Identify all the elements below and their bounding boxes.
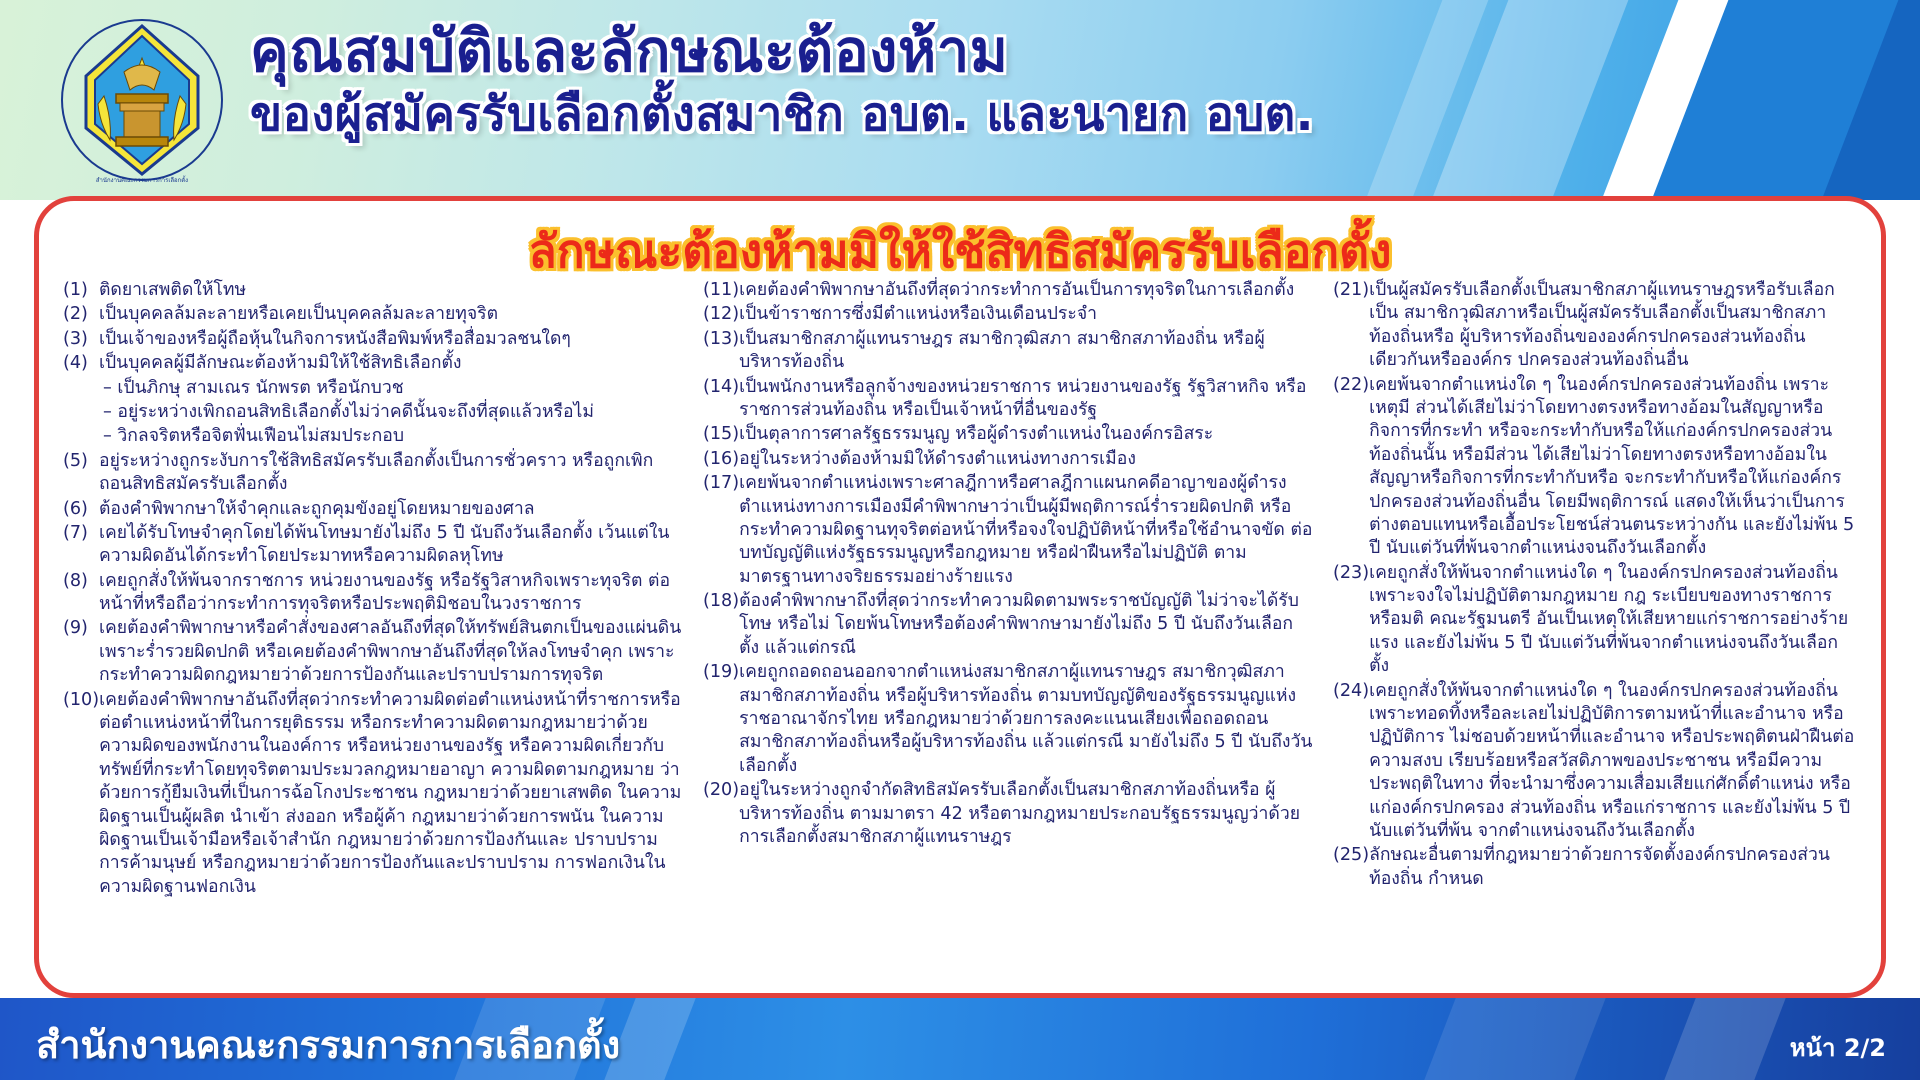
list-item-text: เป็นตุลาการศาลรัฐธรรมนูญ หรือผู้ดำรงตำแห…	[739, 423, 1313, 446]
infographic-page: สำนักงานคณะกรรมการการเลือกตั้ง คุณสมบัติ…	[0, 0, 1920, 1080]
list-item-number: (5)	[63, 450, 99, 473]
list-item-text: เคยได้รับโทษจำคุกโดยได้พ้นโทษมายังไม่ถึง…	[99, 522, 683, 569]
list-item: (12)เป็นข้าราชการซึ่งมีตำแหน่งหรือเงินเด…	[703, 303, 1313, 326]
list-item: (24)เคยถูกสั่งให้พ้นจากตำแหน่งใด ๆ ในองค…	[1333, 680, 1857, 844]
list-item-number: (15)	[703, 423, 739, 446]
list-item: (11)เคยต้องคำพิพากษาอันถึงที่สุดว่ากระทำ…	[703, 279, 1313, 302]
list-item-number: (12)	[703, 303, 739, 326]
list-item-text: ต้องคำพิพากษาให้จำคุกและถูกคุมขังอยู่โดย…	[99, 498, 683, 521]
list-item-number: (19)	[703, 661, 739, 684]
list-item-number: (11)	[703, 279, 739, 302]
list-item: (19)เคยถูกถอดถอนออกจากตำแหน่งสมาชิกสภาผู…	[703, 661, 1313, 778]
list-columns: (1)ติดยาเสพติดให้โทษ(2)เป็นบุคคลล้มละลาย…	[39, 279, 1881, 985]
list-item-number: (1)	[63, 279, 99, 302]
list-subitem: – อยู่ระหว่างเพิกถอนสิทธิเลือกตั้งไม่ว่า…	[63, 401, 683, 424]
list-item: (23)เคยถูกสั่งให้พ้นจากตำแหน่งใด ๆ ในองค…	[1333, 562, 1857, 679]
list-subitem: – เป็นภิกษุ สามเณร นักพรต หรือนักบวช	[63, 377, 683, 400]
list-item: (16)อยู่ในระหว่างต้องห้ามมิให้ดำรงตำแหน่…	[703, 448, 1313, 471]
list-item-text: เคยถูกสั่งให้พ้นจากราชการ หน่วยงานของรัฐ…	[99, 570, 683, 617]
list-item: (10)เคยต้องคำพิพากษาอันถึงที่สุดว่ากระทำ…	[63, 689, 683, 900]
list-item: (22)เคยพ้นจากตำแหน่งใด ๆ ในองค์กรปกครองส…	[1333, 374, 1857, 561]
list-item-number: (6)	[63, 498, 99, 521]
column-2: (11)เคยต้องคำพิพากษาอันถึงที่สุดว่ากระทำ…	[693, 279, 1323, 850]
list-subitem: – วิกลจริตหรือจิตฟั่นเฟือนไม่สมประกอบ	[63, 425, 683, 448]
list-item-number: (9)	[63, 617, 99, 640]
list-item-text: เคยถูกสั่งให้พ้นจากตำแหน่งใด ๆ ในองค์กรป…	[1369, 562, 1857, 679]
list-item: (17)เคยพ้นจากตำแหน่งเพราะศาลฎีกาหรือศาลฎ…	[703, 472, 1313, 589]
list-item-text: เคยต้องคำพิพากษาหรือคำสั่งของศาลอันถึงที…	[99, 617, 683, 687]
list-item-text: เป็นข้าราชการซึ่งมีตำแหน่งหรือเงินเดือนป…	[739, 303, 1313, 326]
list-item-number: (10)	[63, 689, 99, 712]
list-item-text: เคยถูกถอดถอนออกจากตำแหน่งสมาชิกสภาผู้แทน…	[739, 661, 1313, 778]
list-item: (3)เป็นเจ้าของหรือผู้ถือหุ้นในกิจการหนัง…	[63, 328, 683, 351]
ect-seal-logo: สำนักงานคณะกรรมการการเลือกตั้ง	[58, 16, 226, 184]
list-item: (6)ต้องคำพิพากษาให้จำคุกและถูกคุมขังอยู่…	[63, 498, 683, 521]
list-item: (9)เคยต้องคำพิพากษาหรือคำสั่งของศาลอันถึ…	[63, 617, 683, 687]
list-item-text: เคยต้องคำพิพากษาอันถึงที่สุดว่ากระทำความ…	[99, 689, 683, 900]
content-panel: ลักษณะต้องห้ามมิให้ใช้สิทธิสมัครรับเลือก…	[34, 196, 1886, 998]
list-item-number: (17)	[703, 472, 739, 495]
list-item-text: ลักษณะอื่นตามที่กฎหมายว่าด้วยการจัดตั้งอ…	[1369, 844, 1857, 891]
list-item-text: เคยถูกสั่งให้พ้นจากตำแหน่งใด ๆ ในองค์กรป…	[1369, 680, 1857, 844]
list-item-text: เป็นเจ้าของหรือผู้ถือหุ้นในกิจการหนังสือ…	[99, 328, 683, 351]
page-title-line2: ของผู้สมัครรับเลือกตั้งสมาชิก อบต. และนา…	[250, 91, 1430, 139]
list-item: (25)ลักษณะอื่นตามที่กฎหมายว่าด้วยการจัดต…	[1333, 844, 1857, 891]
footer-page-number: หน้า 2/2	[1790, 1028, 1886, 1067]
list-item: (13)เป็นสมาชิกสภาผู้แทนราษฎร สมาชิกวุฒิส…	[703, 328, 1313, 375]
list-item-number: (8)	[63, 570, 99, 593]
list-item: (21)เป็นผู้สมัครรับเลือกตั้งเป็นสมาชิกสภ…	[1333, 279, 1857, 373]
list-item-text: ต้องคำพิพากษาถึงที่สุดว่ากระทำความผิดตาม…	[739, 590, 1313, 660]
page-footer: สำนักงานคณะกรรมการการเลือกตั้ง หน้า 2/2	[0, 998, 1920, 1080]
list-item-number: (2)	[63, 303, 99, 326]
list-item-text: เคยต้องคำพิพากษาอันถึงที่สุดว่ากระทำการอ…	[739, 279, 1313, 302]
list-item-text: เป็นบุคคลล้มละลายหรือเคยเป็นบุคคลล้มละลา…	[99, 303, 683, 326]
list-item-text: อยู่ระหว่างถูกระงับการใช้สิทธิสมัครรับเล…	[99, 450, 683, 497]
list-item-number: (3)	[63, 328, 99, 351]
list-item: (20)อยู่ในระหว่างถูกจำกัดสิทธิสมัครรับเล…	[703, 779, 1313, 849]
list-item-text: เป็นผู้สมัครรับเลือกตั้งเป็นสมาชิกสภาผู้…	[1369, 279, 1857, 373]
list-item-text: อยู่ในระหว่างต้องห้ามมิให้ดำรงตำแหน่งทาง…	[739, 448, 1313, 471]
list-item: (1)ติดยาเสพติดให้โทษ	[63, 279, 683, 302]
list-item: (18)ต้องคำพิพากษาถึงที่สุดว่ากระทำความผิ…	[703, 590, 1313, 660]
list-item: (5)อยู่ระหว่างถูกระงับการใช้สิทธิสมัครรั…	[63, 450, 683, 497]
list-item-number: (16)	[703, 448, 739, 471]
footer-wedge-decoration	[1664, 998, 1785, 1080]
list-item-number: (13)	[703, 328, 739, 351]
list-item-text: ติดยาเสพติดให้โทษ	[99, 279, 683, 302]
column-1: (1)ติดยาเสพติดให้โทษ(2)เป็นบุคคลล้มละลาย…	[53, 279, 693, 900]
list-item-number: (14)	[703, 376, 739, 399]
list-item-number: (25)	[1333, 844, 1369, 867]
column-3: (21)เป็นผู้สมัครรับเลือกตั้งเป็นสมาชิกสภ…	[1323, 279, 1867, 892]
list-item: (2)เป็นบุคคลล้มละลายหรือเคยเป็นบุคคลล้มล…	[63, 303, 683, 326]
list-item-number: (4)	[63, 352, 99, 375]
footer-wedge-decoration	[1424, 998, 1605, 1080]
list-item-number: (18)	[703, 590, 739, 613]
list-item-text: เป็นสมาชิกสภาผู้แทนราษฎร สมาชิกวุฒิสภา ส…	[739, 328, 1313, 375]
list-item-text: เคยพ้นจากตำแหน่งเพราะศาลฎีกาหรือศาลฎีกาแ…	[739, 472, 1313, 589]
list-item-number: (23)	[1333, 562, 1369, 585]
list-item-text: เป็นพนักงานหรือลูกจ้างของหน่วยราชการ หน่…	[739, 376, 1313, 423]
page-title-line1: คุณสมบัติและลักษณะต้องห้าม	[250, 22, 1430, 81]
list-item: (15)เป็นตุลาการศาลรัฐธรรมนูญ หรือผู้ดำรง…	[703, 423, 1313, 446]
list-item: (14)เป็นพนักงานหรือลูกจ้างของหน่วยราชการ…	[703, 376, 1313, 423]
list-item: (4)เป็นบุคคลผู้มีลักษณะต้องห้ามมิให้ใช้ส…	[63, 352, 683, 375]
list-item-number: (22)	[1333, 374, 1369, 397]
list-item-text: เคยพ้นจากตำแหน่งใด ๆ ในองค์กรปกครองส่วนท…	[1369, 374, 1857, 561]
list-item-number: (7)	[63, 522, 99, 545]
list-item: (7)เคยได้รับโทษจำคุกโดยได้พ้นโทษมายังไม่…	[63, 522, 683, 569]
list-item-text: อยู่ในระหว่างถูกจำกัดสิทธิสมัครรับเลือกต…	[739, 779, 1313, 849]
list-item-number: (21)	[1333, 279, 1369, 302]
list-item-number: (24)	[1333, 680, 1369, 703]
panel-heading: ลักษณะต้องห้ามมิให้ใช้สิทธิสมัครรับเลือก…	[39, 215, 1881, 288]
page-header: สำนักงานคณะกรรมการการเลือกตั้ง คุณสมบัติ…	[0, 0, 1920, 200]
header-title-block: คุณสมบัติและลักษณะต้องห้าม ของผู้สมัครรั…	[250, 22, 1430, 139]
list-item: (8)เคยถูกสั่งให้พ้นจากราชการ หน่วยงานของ…	[63, 570, 683, 617]
list-item-text: เป็นบุคคลผู้มีลักษณะต้องห้ามมิให้ใช้สิทธ…	[99, 352, 683, 375]
footer-organization: สำนักงานคณะกรรมการการเลือกตั้ง	[36, 1014, 620, 1075]
list-item-number: (20)	[703, 779, 739, 802]
